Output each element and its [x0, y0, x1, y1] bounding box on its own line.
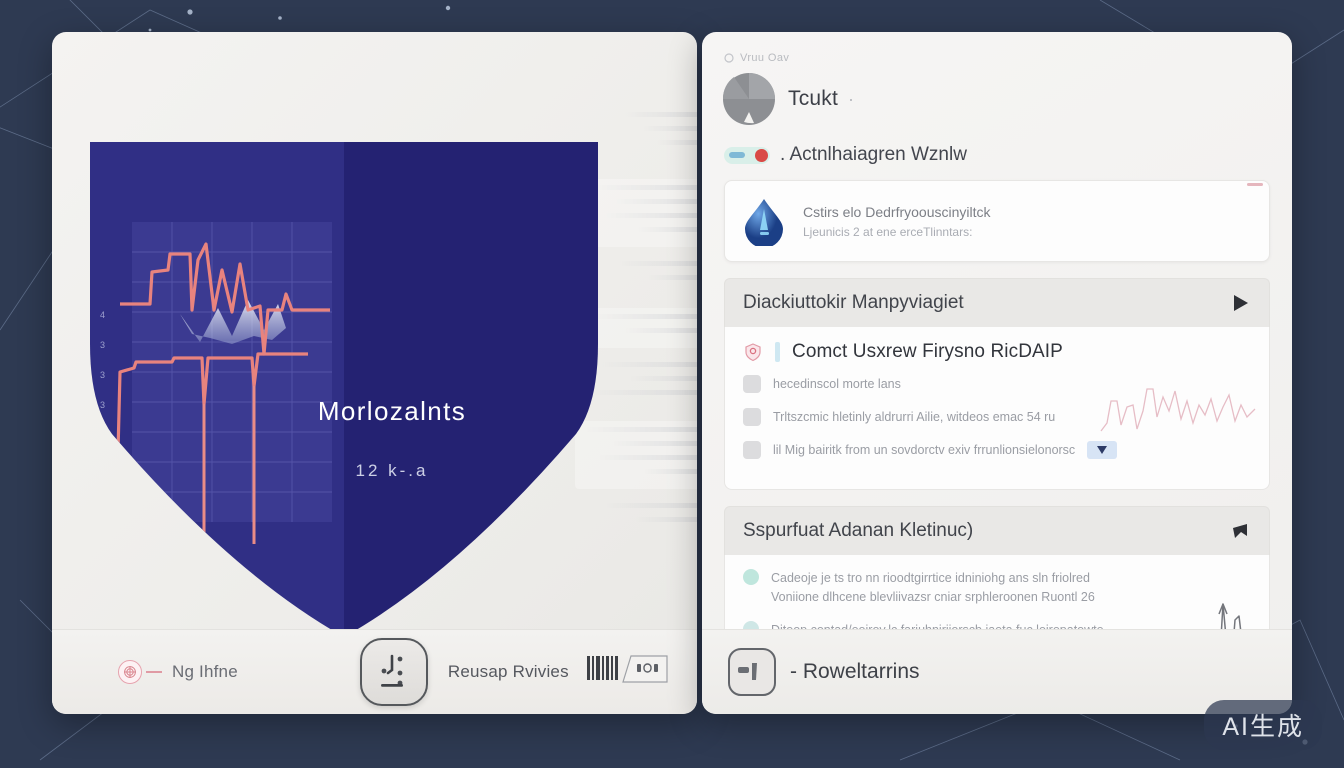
svg-text:3: 3: [100, 460, 105, 470]
section-header-support[interactable]: Sspurfuat Adanan Kletinuc): [724, 506, 1270, 555]
clock-face-icon: [360, 638, 428, 706]
play-triangle-icon[interactable]: [1229, 292, 1251, 314]
intro-card-title: Cstirs elo Dedrfryoouscinyiltck: [803, 204, 991, 220]
list-item-text: lil Mig bairitk from un sovdorctv exiv f…: [773, 441, 1075, 460]
gear-icon: [743, 441, 761, 459]
accent-bar: [775, 342, 780, 362]
dot-icon: [724, 53, 734, 63]
footer-review-item[interactable]: Reusap Rvivies: [360, 638, 671, 706]
tag-square-icon: [728, 648, 776, 696]
right-panel-subtitle: . Actnlhaiagren Wznlw: [780, 144, 967, 166]
pie-chart-icon: [720, 70, 778, 128]
shield-alert-icon: [743, 342, 763, 362]
eyebrow-label: Vruu Oav: [740, 52, 789, 64]
lock-icon: [743, 408, 761, 426]
eyebrow-row: Vruu Oav: [724, 52, 1270, 64]
left-panel: 433 323 1 Morlozalnts 12 k-.a Ng Ihfne: [52, 32, 697, 714]
intro-card-subtitle: Ljeunicis 2 at ene erceTlinntars:: [803, 225, 991, 239]
svg-text:3: 3: [100, 370, 105, 380]
right-panel-footer[interactable]: - Roweltarrins: [702, 629, 1292, 714]
footer-review-label: Reusap Rvivies: [448, 662, 569, 682]
section-1-title: Diackiuttokir Manpyviagiet: [743, 292, 964, 314]
svg-text:2: 2: [100, 430, 105, 440]
footer-status-label: Ng Ihfne: [172, 662, 238, 682]
footer-status-item[interactable]: Ng Ihfne: [118, 660, 238, 684]
list-item-text: Cadeoje je ts tro nn rioodtgirrtice idni…: [771, 569, 1095, 607]
accent-mark: [1247, 183, 1263, 186]
ai-watermark: AI生成: [1204, 700, 1322, 750]
svg-text:4: 4: [100, 310, 105, 320]
section-1-card-title: Comct Usxrew Firysno RicDAIP: [792, 341, 1063, 363]
shield-title: Morlozalnts: [242, 396, 542, 427]
section-1-body: Comct Usxrew Firysno RicDAIP hecedinscol…: [724, 327, 1270, 490]
right-panel-header: Vruu Oav Tcukt · . Actnlhaiagren Wznlw: [702, 32, 1292, 166]
intro-card[interactable]: Cstirs elo Dedrfryoouscinyiltck Ljeunici…: [724, 180, 1270, 262]
barcode-card-icon: [587, 650, 671, 695]
right-panel-title: Tcukt: [788, 87, 838, 111]
list-item-text: Trltszcmic hletinly aldrurri Ailie, witd…: [773, 408, 1055, 427]
section-header-discovery[interactable]: Diackiuttokir Manpyviagiet: [724, 278, 1270, 327]
left-panel-footer: Ng Ihfne Reusap Rvivies: [52, 629, 697, 714]
svg-text:3: 3: [100, 340, 105, 350]
status-pill-badge: [724, 147, 770, 164]
list-item-text: hecedinscol morte lans: [773, 375, 901, 394]
section-2-title: Sspurfuat Adanan Kletinuc): [743, 520, 973, 542]
svg-text:3: 3: [100, 400, 105, 410]
shield-subtitle: 12 k-.a: [242, 461, 542, 481]
section-1-sparkline: [1099, 371, 1259, 445]
right-footer-label: - Roweltarrins: [790, 660, 920, 684]
teal-dot-icon: [743, 569, 759, 585]
right-panel: Vruu Oav Tcukt · . Actnlhaiagren Wznlw: [702, 32, 1292, 714]
shield-graphic: 433 323 1 Morlozalnts 12 k-.a: [72, 104, 612, 649]
svg-text:1: 1: [100, 490, 105, 500]
flower-marker-icon: [118, 660, 142, 684]
person-icon: [743, 375, 761, 393]
corner-arrow-icon[interactable]: [1229, 520, 1251, 542]
droplet-shield-icon: [741, 196, 787, 246]
